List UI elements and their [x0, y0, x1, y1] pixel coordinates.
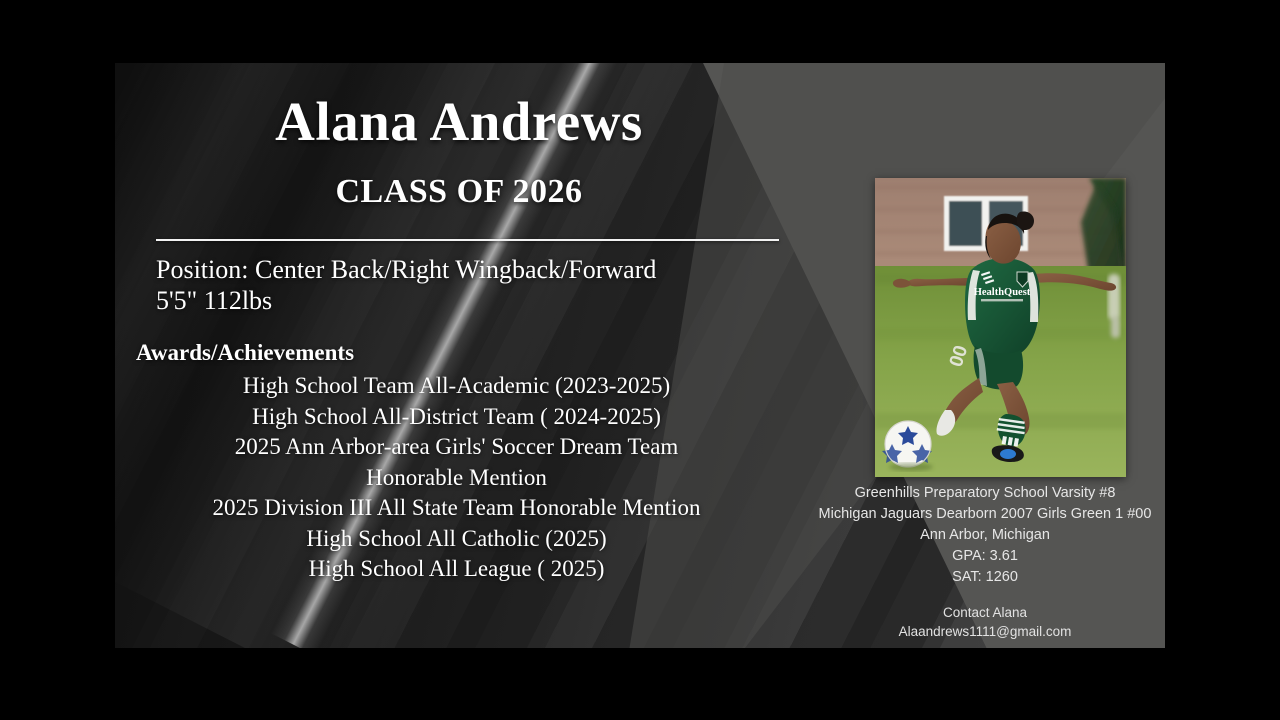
caption-line: Michigan Jaguars Dearborn 2007 Girls Gre…	[805, 504, 1165, 525]
player-action-photo: HealthQuest 00	[875, 178, 1126, 477]
position-text: Position: Center Back/Right Wingback/For…	[156, 254, 656, 285]
team-details-caption: Greenhills Preparatory School Varsity #8…	[805, 483, 1165, 588]
award-item: Honorable Mention	[129, 463, 784, 494]
page-title: Alana Andrews	[129, 94, 789, 149]
contact-label: Contact Alana	[805, 603, 1165, 622]
award-item: High School All-District Team ( 2024-202…	[129, 402, 784, 433]
award-item: 2025 Ann Arbor-area Girls' Soccer Dream …	[129, 432, 784, 463]
header-divider	[156, 239, 779, 241]
svg-text:HealthQuest: HealthQuest	[974, 287, 1031, 298]
awards-heading: Awards/Achievements	[136, 340, 354, 366]
award-item: High School Team All-Academic (2023-2025…	[129, 371, 784, 402]
awards-list: High School Team All-Academic (2023-2025…	[129, 371, 784, 585]
contact-block: Contact Alana Alaandrews1111@gmail.com	[805, 603, 1165, 641]
measurements-text: 5'5" 112lbs	[156, 285, 272, 316]
gpa-value: GPA: 3.61	[805, 546, 1165, 567]
soccer-player-photo-illustration: HealthQuest 00	[875, 178, 1126, 477]
caption-line: Greenhills Preparatory School Varsity #8	[805, 483, 1165, 504]
award-item: 2025 Division III All State Team Honorab…	[129, 493, 784, 524]
contact-email[interactable]: Alaandrews1111@gmail.com	[805, 622, 1165, 641]
award-item: High School All League ( 2025)	[129, 554, 784, 585]
screenshot-canvas: Alana Andrews CLASS OF 2026 Position: Ce…	[0, 0, 1280, 720]
sat-value: SAT: 1260	[805, 567, 1165, 588]
presentation-slide: Alana Andrews CLASS OF 2026 Position: Ce…	[115, 63, 1165, 648]
award-item: High School All Catholic (2025)	[129, 524, 784, 555]
class-year-subtitle: CLASS OF 2026	[129, 173, 789, 211]
caption-line: Ann Arbor, Michigan	[805, 525, 1165, 546]
